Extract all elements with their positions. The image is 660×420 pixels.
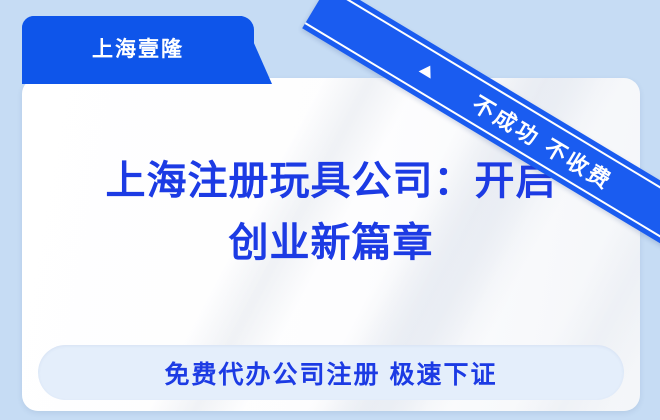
headline-line-2: 创业新篇章: [22, 212, 640, 274]
footer-pill[interactable]: 免费代办公司注册 极速下证: [38, 345, 624, 400]
footer-pill-label: 免费代办公司注册 极速下证: [165, 355, 498, 391]
brand-tab-label: 上海壹隆: [22, 16, 254, 80]
promo-banner: 上海壹隆 上海注册玩具公司：开启 创业新篇章 免费代办公司注册 极速下证 不成功…: [0, 0, 660, 420]
